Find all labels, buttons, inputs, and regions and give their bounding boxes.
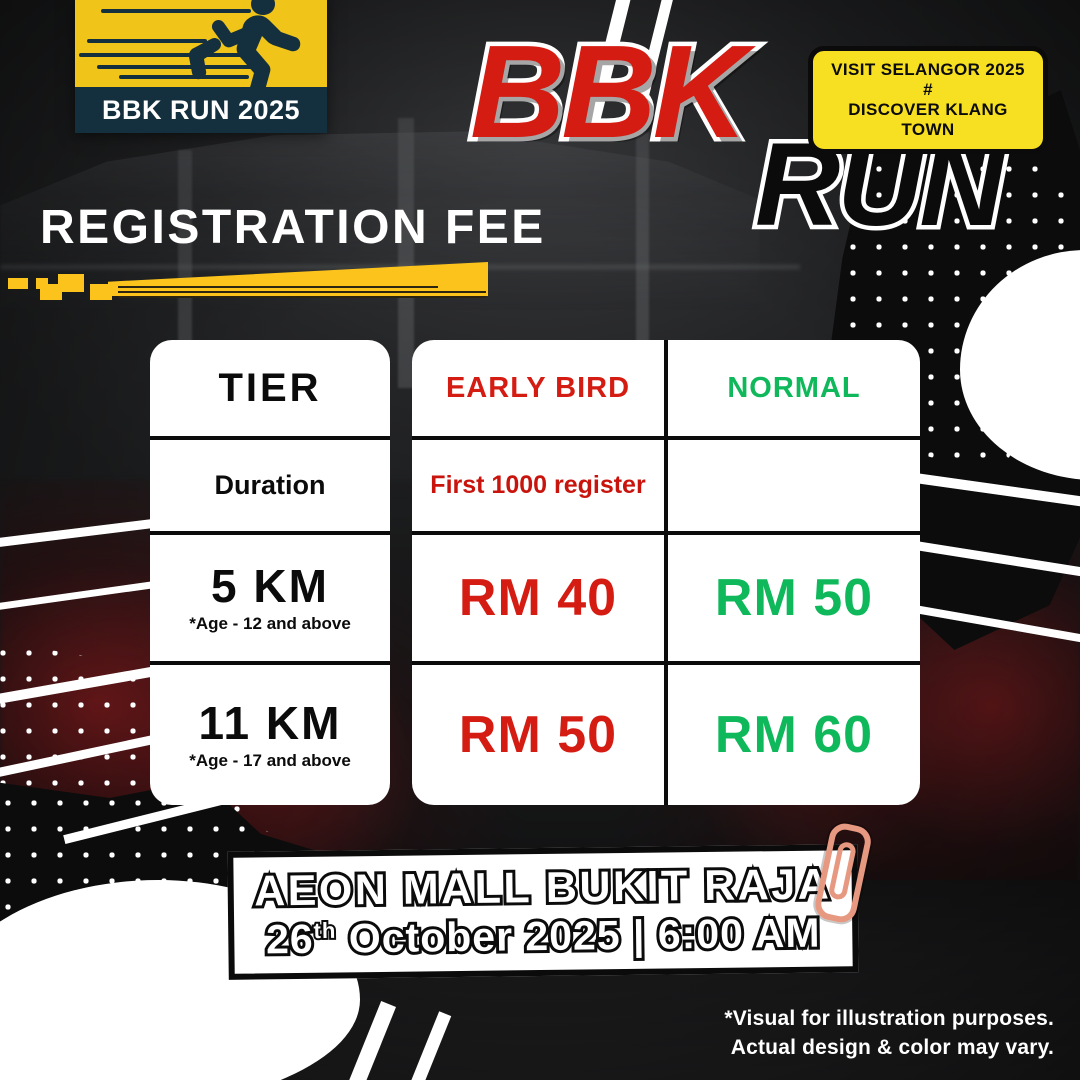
price-columns: EARLY BIRD NORMAL First 1000 register RM… bbox=[412, 340, 920, 805]
event-date-rest: October 2025 | 6:00 AM bbox=[336, 909, 821, 961]
tier-note-11km: *Age - 17 and above bbox=[189, 751, 351, 771]
logo-streak-4 bbox=[97, 65, 257, 69]
table-cell: NORMAL bbox=[664, 340, 920, 436]
registration-fee-poster: BBK RUN 2025 BBK RUN VISIT SELANGOR 2025… bbox=[0, 0, 1080, 1080]
table-cell: 5 KM *Age - 12 and above bbox=[150, 535, 390, 661]
table-row: EARLY BIRD NORMAL bbox=[412, 340, 920, 440]
price-11km-early-bird: RM 50 bbox=[459, 705, 617, 765]
table-cell: Duration bbox=[150, 440, 390, 531]
table-cell: RM 50 bbox=[412, 665, 664, 805]
disclaimer-line-1: *Visual for illustration purposes. bbox=[724, 1005, 1054, 1033]
wordmark-bbk: BBK bbox=[470, 26, 744, 158]
tier-note-5km: *Age - 12 and above bbox=[189, 614, 351, 634]
badge-line-2: DISCOVER KLANG TOWN bbox=[825, 100, 1031, 140]
table-row: RM 50 RM 60 bbox=[412, 665, 920, 805]
column-header-tier: TIER bbox=[218, 366, 321, 411]
running-man-icon bbox=[189, 0, 309, 87]
table-row: TIER bbox=[150, 340, 390, 440]
heading-accent-line-1 bbox=[118, 286, 438, 288]
logo-streak-5 bbox=[119, 75, 249, 79]
price-11km-normal: RM 60 bbox=[715, 705, 873, 765]
price-5km-normal: RM 50 bbox=[715, 568, 873, 628]
page-title: REGISTRATION FEE bbox=[40, 200, 546, 255]
venue-name: AEON MALL BUKIT RAJA bbox=[254, 862, 832, 915]
heading-accent-line-2 bbox=[118, 291, 486, 293]
table-cell bbox=[664, 440, 920, 531]
logo-streak-3 bbox=[79, 53, 247, 57]
campaign-badge: VISIT SELANGOR 2025 # DISCOVER KLANG TOW… bbox=[808, 46, 1048, 154]
venue-banner: AEON MALL BUKIT RAJA 26th October 2025 |… bbox=[227, 844, 859, 980]
table-row: First 1000 register bbox=[412, 440, 920, 535]
price-5km-early-bird: RM 40 bbox=[459, 568, 617, 628]
table-cell: 11 KM *Age - 17 and above bbox=[150, 665, 390, 805]
table-cell: RM 50 bbox=[664, 535, 920, 661]
logo-streak-1 bbox=[101, 9, 251, 13]
heading-accent-square-5 bbox=[90, 284, 112, 300]
tier-label-11km: 11 KM bbox=[199, 699, 342, 747]
table-row: 11 KM *Age - 17 and above bbox=[150, 665, 390, 805]
tier-label-duration: Duration bbox=[215, 470, 326, 501]
event-datetime: 26th October 2025 | 6:00 AM bbox=[266, 910, 821, 962]
event-day-ordinal: th bbox=[313, 918, 336, 943]
tier-column: TIER Duration 5 KM *Age - 12 and above 1… bbox=[150, 340, 390, 805]
table-row: Duration bbox=[150, 440, 390, 535]
event-day: 26 bbox=[266, 915, 314, 962]
table-cell: TIER bbox=[150, 340, 390, 436]
table-row: RM 40 RM 50 bbox=[412, 535, 920, 665]
tier-label-5km: 5 KM bbox=[211, 562, 329, 610]
table-row: 5 KM *Age - 12 and above bbox=[150, 535, 390, 665]
table-cell: First 1000 register bbox=[412, 440, 664, 531]
heading-accent-square-1 bbox=[8, 278, 28, 289]
logo-streak-2 bbox=[87, 39, 207, 43]
logo-name-panel: BBK RUN 2025 bbox=[75, 87, 327, 133]
heading-accent-square-4 bbox=[40, 284, 62, 300]
registration-fee-table: TIER Duration 5 KM *Age - 12 and above 1… bbox=[150, 340, 920, 805]
heading-accent-line-3 bbox=[118, 296, 486, 298]
disclaimer: *Visual for illustration purposes. Actua… bbox=[724, 1005, 1054, 1062]
duration-early-bird: First 1000 register bbox=[430, 471, 645, 500]
disclaimer-line-2: Actual design & color may vary. bbox=[724, 1034, 1054, 1062]
logo-runner-panel bbox=[75, 0, 327, 87]
bbk-run-logo: BBK RUN 2025 bbox=[75, 0, 327, 133]
column-header-early-bird: EARLY BIRD bbox=[446, 372, 630, 405]
table-cell: RM 60 bbox=[664, 665, 920, 805]
table-cell: RM 40 bbox=[412, 535, 664, 661]
column-header-normal: NORMAL bbox=[727, 372, 860, 405]
badge-line-1: VISIT SELANGOR 2025 # bbox=[825, 60, 1031, 100]
table-cell: EARLY BIRD bbox=[412, 340, 664, 436]
logo-text: BBK RUN 2025 bbox=[102, 95, 300, 126]
